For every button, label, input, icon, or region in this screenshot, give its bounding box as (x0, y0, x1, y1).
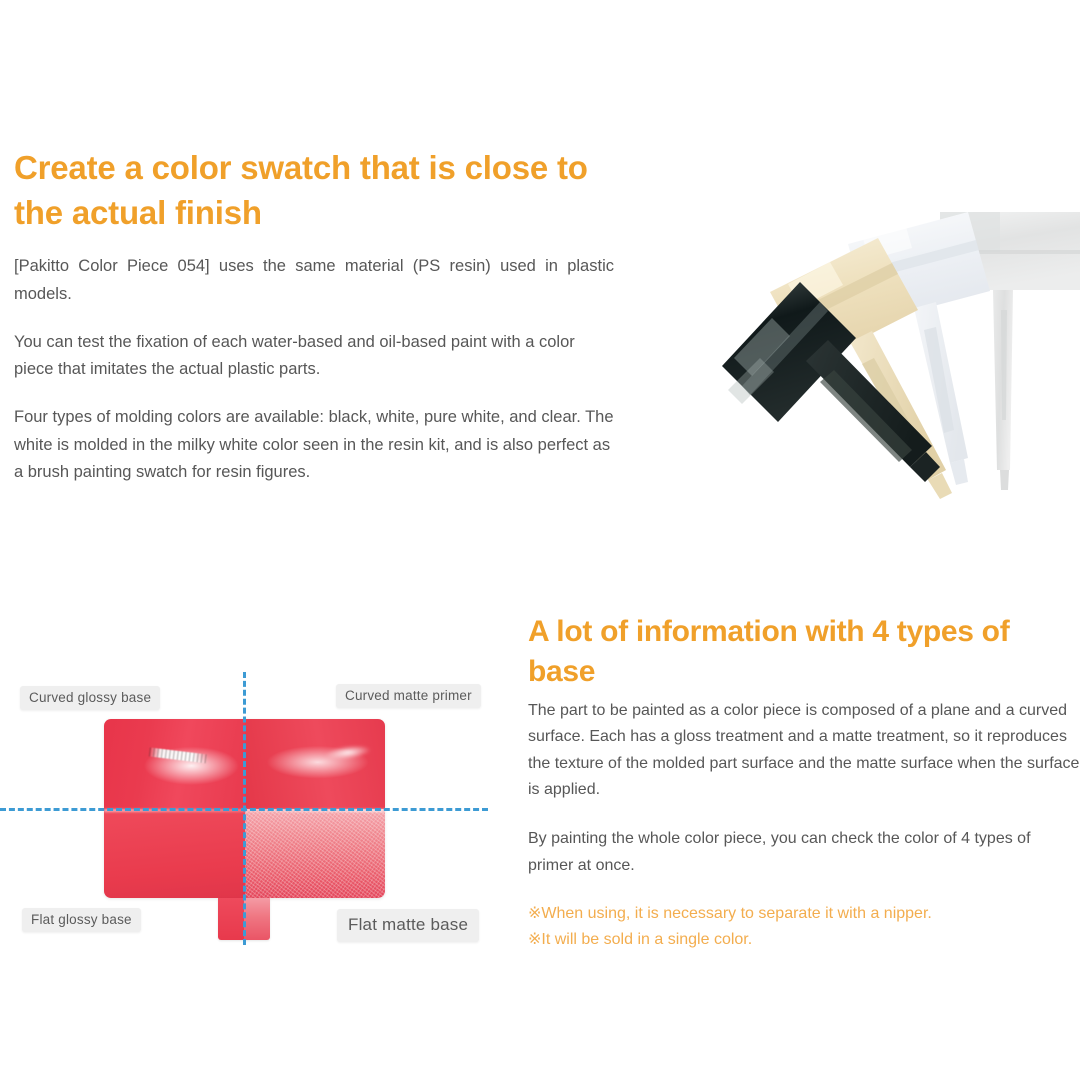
color-pieces-illustration (700, 190, 1080, 550)
quadrant-flat-glossy (104, 809, 245, 899)
sprue-tab-glossy-half (218, 898, 244, 940)
label-flat-glossy-base: Flat glossy base (22, 908, 141, 932)
matte-highlight-streak (324, 743, 372, 762)
section-two-title: A lot of information with 4 types of bas… (528, 612, 1080, 692)
section-two-paragraph-1: The part to be painted as a color piece … (528, 698, 1080, 804)
page-title: Create a color swatch that is close to t… (14, 146, 614, 235)
vertical-guide-line (243, 672, 246, 945)
label-curved-glossy-base: Curved glossy base (20, 686, 160, 710)
color-pieces-photo (700, 190, 1080, 550)
sprue-tab-matte-half (244, 898, 270, 940)
matte-grain-texture (245, 809, 386, 899)
section-two-text: A lot of information with 4 types of bas… (528, 612, 1080, 953)
quadrant-curved-glossy (104, 719, 245, 809)
section-two-note-1: ※When using, it is necessary to separate… (528, 901, 1080, 927)
section-one-paragraph-3: Four types of molding colors are availab… (14, 404, 614, 487)
label-flat-matte-base: Flat matte base (337, 909, 479, 942)
section-one-paragraph-1: [Pakitto Color Piece 054] uses the same … (14, 253, 614, 308)
section-two-note-2: ※It will be sold in a single color. (528, 927, 1080, 953)
label-curved-matte-primer: Curved matte primer (336, 684, 481, 708)
quadrant-flat-matte (245, 809, 386, 899)
section-one-text: Create a color swatch that is close to t… (14, 146, 614, 487)
swatch-figure: Curved glossy base Curved matte primer F… (0, 650, 500, 960)
gloss-highlight-streak (149, 748, 209, 764)
page-root: Create a color swatch that is close to t… (0, 0, 1080, 1080)
section-one-paragraph-2: You can test the fixation of each water-… (14, 329, 614, 384)
quadrant-curved-matte (245, 719, 386, 809)
section-two-paragraph-2: By painting the whole color piece, you c… (528, 826, 1080, 879)
